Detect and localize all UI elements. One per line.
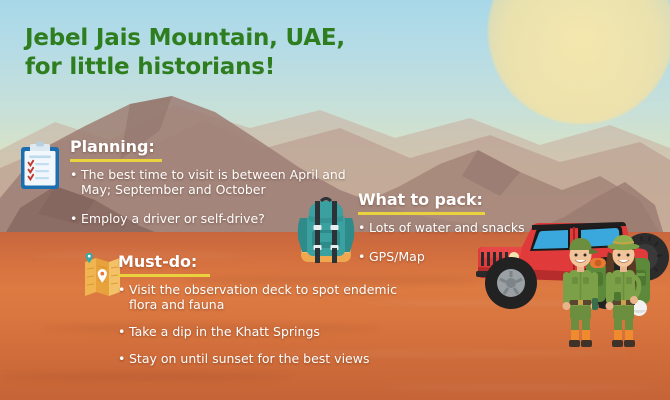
bullet-item: Take a dip in the Khatt Springs	[118, 324, 398, 339]
section-heading-pack: What to pack:	[358, 190, 483, 211]
section-heading-planning: Planning:	[70, 137, 155, 158]
folded-map-icon	[84, 253, 122, 301]
bullet-item: The best time to visit is between April …	[70, 167, 350, 197]
clipboard-icon	[18, 141, 62, 195]
infographic-canvas: Jebel Jais Mountain, UAE, for little his…	[0, 0, 670, 400]
section-planning: Planning: The best time to visit is betw…	[70, 137, 350, 236]
title-line-1: Jebel Jais Mountain, UAE,	[25, 24, 445, 53]
title-line-2: for little historians!	[25, 53, 445, 82]
bullet-item: Stay on until sunset for the best views	[118, 351, 398, 366]
heading-underline	[70, 159, 162, 162]
bullet-item: Visit the observation deck to spot endem…	[118, 282, 398, 312]
heading-underline	[118, 274, 210, 277]
bullet-item: Employ a driver or self-drive?	[70, 211, 350, 226]
heading-underline	[358, 212, 485, 215]
bullet-item: Lots of water and snacks	[358, 220, 608, 235]
section-must-do: Must-do: Visit the observation deck to s…	[118, 252, 398, 376]
female-hiker	[606, 235, 651, 347]
page-title: Jebel Jais Mountain, UAE, for little his…	[25, 24, 445, 82]
section-heading-mustdo: Must-do:	[118, 252, 197, 273]
